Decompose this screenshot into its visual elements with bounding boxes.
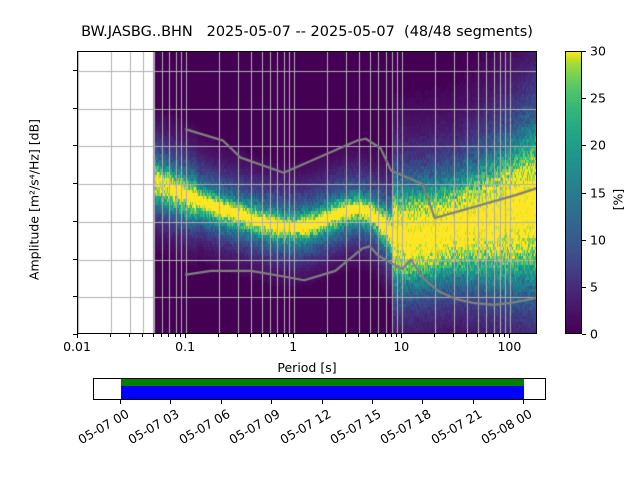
- colorbar-tick-mark: [582, 287, 586, 288]
- timeline-gaps-band: [121, 379, 524, 386]
- x-axis-minor-tick-mark: [142, 334, 143, 337]
- x-axis-minor-tick-mark: [110, 334, 111, 337]
- x-axis-tick-mark: [509, 334, 510, 338]
- x-axis-minor-tick-mark: [288, 334, 289, 337]
- colorbar-tick-label: 10: [590, 232, 606, 247]
- x-axis-tick-mark: [185, 334, 186, 338]
- timeline-data-band: [121, 386, 524, 399]
- x-axis-minor-tick-mark: [477, 334, 478, 337]
- x-axis-minor-tick-mark: [269, 334, 270, 337]
- x-axis-minor-tick-mark: [434, 334, 435, 337]
- colorbar-tick-label: 20: [590, 138, 606, 153]
- colorbar-tick-label: 25: [590, 91, 606, 106]
- x-axis-minor-tick-mark: [129, 334, 130, 337]
- x-axis-tick-mark: [401, 334, 402, 338]
- timeline-tick-mark: [170, 400, 171, 404]
- y-axis-tick-mark: [73, 296, 77, 297]
- x-axis-minor-tick-mark: [161, 334, 162, 337]
- y-axis-tick-mark: [73, 145, 77, 146]
- colorbar-tick-mark: [582, 334, 586, 335]
- x-axis-minor-tick-mark: [237, 334, 238, 337]
- x-axis-tick-mark: [293, 334, 294, 338]
- x-axis-minor-tick-mark: [218, 334, 219, 337]
- ppsd-figure: BW.JASBG..BHN 2025-05-07 -- 2025-05-07 (…: [0, 0, 640, 480]
- colorbar-tick-mark: [582, 193, 586, 194]
- x-axis-minor-tick-mark: [391, 334, 392, 337]
- x-axis-minor-tick-mark: [358, 334, 359, 337]
- x-axis-minor-tick-mark: [453, 334, 454, 337]
- x-axis-minor-tick-mark: [250, 334, 251, 337]
- x-axis-minor-tick-mark: [283, 334, 284, 337]
- y-axis-tick-mark: [73, 221, 77, 222]
- x-axis-minor-tick-mark: [153, 334, 154, 337]
- x-axis-label: Period [s]: [77, 360, 537, 375]
- x-axis-minor-tick-mark: [493, 334, 494, 337]
- timeline-tick-mark: [422, 400, 423, 404]
- data-coverage-timeline: [93, 378, 546, 400]
- x-axis-minor-tick-mark: [499, 334, 500, 337]
- x-axis-minor-tick-mark: [377, 334, 378, 337]
- y-axis-tick-mark: [73, 259, 77, 260]
- timeline-tick-mark: [120, 400, 121, 404]
- y-axis-tick-mark: [73, 183, 77, 184]
- timeline-tick-mark: [523, 400, 524, 404]
- colorbar-tick-label: 5: [590, 279, 598, 294]
- x-axis-minor-tick-mark: [180, 334, 181, 337]
- y-axis-tick-mark: [73, 108, 77, 109]
- x-axis-minor-tick-mark: [485, 334, 486, 337]
- colorbar-tick-mark: [582, 240, 586, 241]
- x-axis-tick-mark: [77, 334, 78, 338]
- colorbar-tick-mark: [582, 98, 586, 99]
- x-axis-tick-label: 10: [393, 339, 409, 354]
- x-axis-minor-tick-mark: [326, 334, 327, 337]
- x-axis-tick-label: 0.01: [63, 339, 91, 354]
- ppsd-histogram-canvas: [78, 52, 537, 334]
- x-axis-minor-tick-mark: [504, 334, 505, 337]
- timeline-tick-mark: [322, 400, 323, 404]
- x-axis-minor-tick-mark: [396, 334, 397, 337]
- x-axis-tick-label: 1: [289, 339, 297, 354]
- x-axis-tick-label: 100: [497, 339, 521, 354]
- colorbar-label: [%]: [611, 170, 626, 230]
- colorbar-tick-label: 0: [590, 327, 598, 342]
- x-axis-tick-label: 0.1: [175, 339, 195, 354]
- x-axis-minor-tick-mark: [345, 334, 346, 337]
- y-axis-label: Amplitude [m²/s⁴/Hz] [dB]: [27, 50, 42, 350]
- timeline-tick-mark: [271, 400, 272, 404]
- x-axis-minor-tick-mark: [276, 334, 277, 337]
- ppsd-plot-area: [77, 51, 537, 334]
- colorbar: [565, 51, 582, 334]
- colorbar-tick-label: 30: [590, 44, 606, 59]
- x-axis-minor-tick-mark: [466, 334, 467, 337]
- x-axis-minor-tick-mark: [261, 334, 262, 337]
- timeline-tick-mark: [372, 400, 373, 404]
- colorbar-tick-label: 15: [590, 185, 606, 200]
- timeline-tick-mark: [473, 400, 474, 404]
- colorbar-tick-mark: [582, 145, 586, 146]
- page-title: BW.JASBG..BHN 2025-05-07 -- 2025-05-07 (…: [0, 24, 614, 40]
- x-axis-minor-tick-mark: [369, 334, 370, 337]
- x-axis-minor-tick-mark: [175, 334, 176, 337]
- x-axis-minor-tick-mark: [385, 334, 386, 337]
- timeline-tick-mark: [221, 400, 222, 404]
- colorbar-tick-mark: [582, 51, 586, 52]
- y-axis-tick-mark: [73, 70, 77, 71]
- x-axis-minor-tick-mark: [168, 334, 169, 337]
